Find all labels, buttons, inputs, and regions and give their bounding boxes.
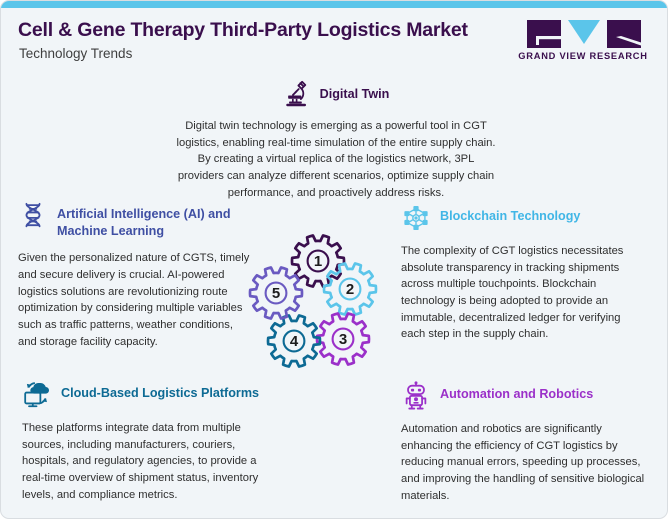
gear-2: 2 [324, 263, 376, 314]
section-digital-twin: Digital Twin Digital twin technology is … [176, 79, 496, 201]
section-body-ai: Given the personalized nature of CGTS, t… [18, 250, 250, 350]
logo-wordmark: GRAND VIEW RESEARCH [513, 51, 653, 61]
gear-5: 5 [250, 267, 302, 318]
gear-4: 4 [268, 315, 320, 366]
page-title: Cell & Gene Therapy Third-Party Logistic… [18, 19, 468, 42]
gear-cluster-graphic: 12345 [246, 233, 378, 373]
gear-3: 3 [317, 313, 369, 364]
gear-number-label: 3 [339, 331, 347, 348]
section-body-cloud: These platforms integrate data from mult… [22, 420, 272, 503]
infographic-canvas: Cell & Gene Therapy Third-Party Logistic… [0, 0, 668, 519]
section-body-digital-twin: Digital twin technology is emerging as a… [176, 118, 496, 201]
section-header-automation: Automation and Robotics [401, 381, 656, 411]
section-cloud-platforms: Cloud-Based Logistics Platforms These pl… [22, 380, 292, 503]
gear-number-label: 4 [290, 333, 299, 350]
gvr-logo-mark [527, 20, 641, 48]
section-title-cloud: Cloud-Based Logistics Platforms [61, 380, 259, 402]
section-title-automation: Automation and Robotics [440, 381, 593, 403]
gear-number-label: 2 [346, 281, 354, 298]
robot-icon [401, 381, 431, 411]
gear-number-label: 1 [314, 253, 322, 270]
section-title-digital-twin: Digital Twin [320, 86, 390, 103]
microscope-icon [283, 79, 313, 109]
section-title-blockchain: Blockchain Technology [440, 203, 580, 225]
section-header-cloud: Cloud-Based Logistics Platforms [22, 380, 292, 410]
section-body-blockchain: The complexity of CGT logistics necessit… [401, 243, 627, 343]
section-header-blockchain: Blockchain Technology [401, 203, 656, 233]
gear-1: 1 [292, 235, 344, 286]
top-accent-bar [1, 1, 667, 8]
section-ai-machine-learning: Artificial Intelligence (AI) and Machine… [18, 201, 276, 350]
blockchain-nodes-icon [401, 203, 431, 233]
page-subtitle: Technology Trends [19, 46, 132, 61]
cloud-monitor-icon [22, 380, 52, 410]
dna-helix-icon [18, 201, 48, 231]
section-automation-robotics: Automation and Robotics Automation and r… [401, 381, 656, 504]
section-header-digital-twin: Digital Twin [176, 79, 496, 109]
section-title-ai: Artificial Intelligence (AI) and Machine… [57, 201, 276, 239]
section-blockchain: Blockchain Technology The complexity of … [401, 203, 656, 343]
gear-number-label: 5 [272, 285, 280, 302]
section-body-automation: Automation and robotics are significantl… [401, 421, 645, 504]
brand-logo: GRAND VIEW RESEARCH [513, 20, 653, 68]
section-header-ai: Artificial Intelligence (AI) and Machine… [18, 201, 276, 239]
header: Cell & Gene Therapy Third-Party Logistic… [1, 8, 667, 70]
